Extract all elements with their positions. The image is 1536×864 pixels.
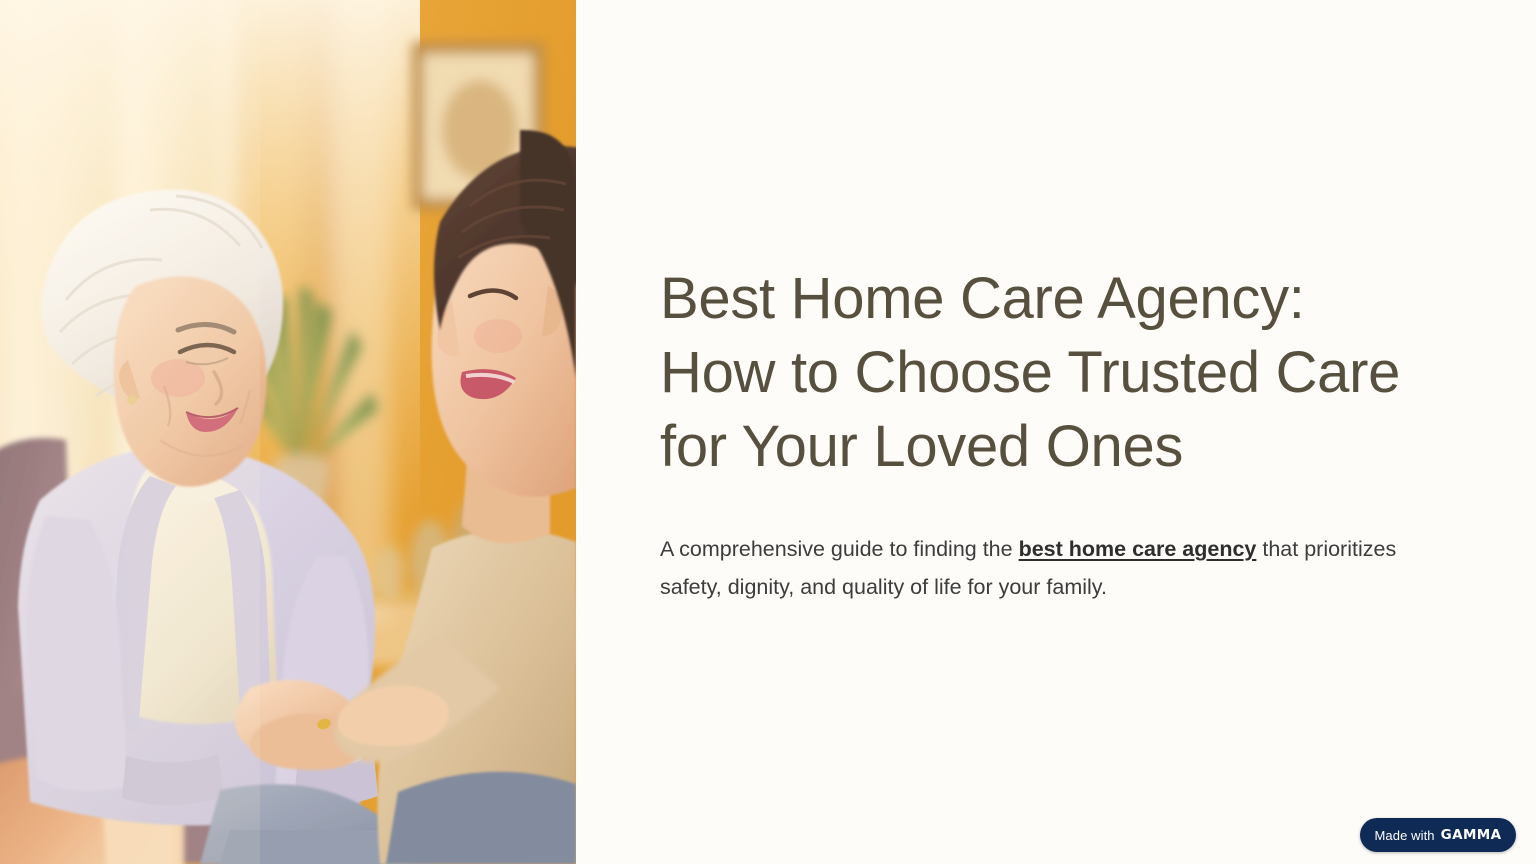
page-subtitle: A comprehensive guide to finding the bes… — [660, 484, 1420, 606]
badge-brand-label: GAMMA — [1441, 827, 1502, 843]
content-panel: Best Home Care Agency: How to Choose Tru… — [576, 0, 1536, 864]
badge-made-with-label: Made with — [1374, 828, 1434, 843]
text-block: Best Home Care Agency: How to Choose Tru… — [660, 262, 1432, 606]
page-title: Best Home Care Agency: How to Choose Tru… — [660, 262, 1432, 484]
hero-illustration — [0, 0, 576, 864]
subtitle-prefix: A comprehensive guide to finding the — [660, 537, 1019, 561]
made-with-gamma-badge[interactable]: Made with GAMMA — [1360, 818, 1516, 852]
presentation-slide: Best Home Care Agency: How to Choose Tru… — [0, 0, 1536, 864]
subtitle-emphasis: best home care agency — [1019, 537, 1257, 561]
